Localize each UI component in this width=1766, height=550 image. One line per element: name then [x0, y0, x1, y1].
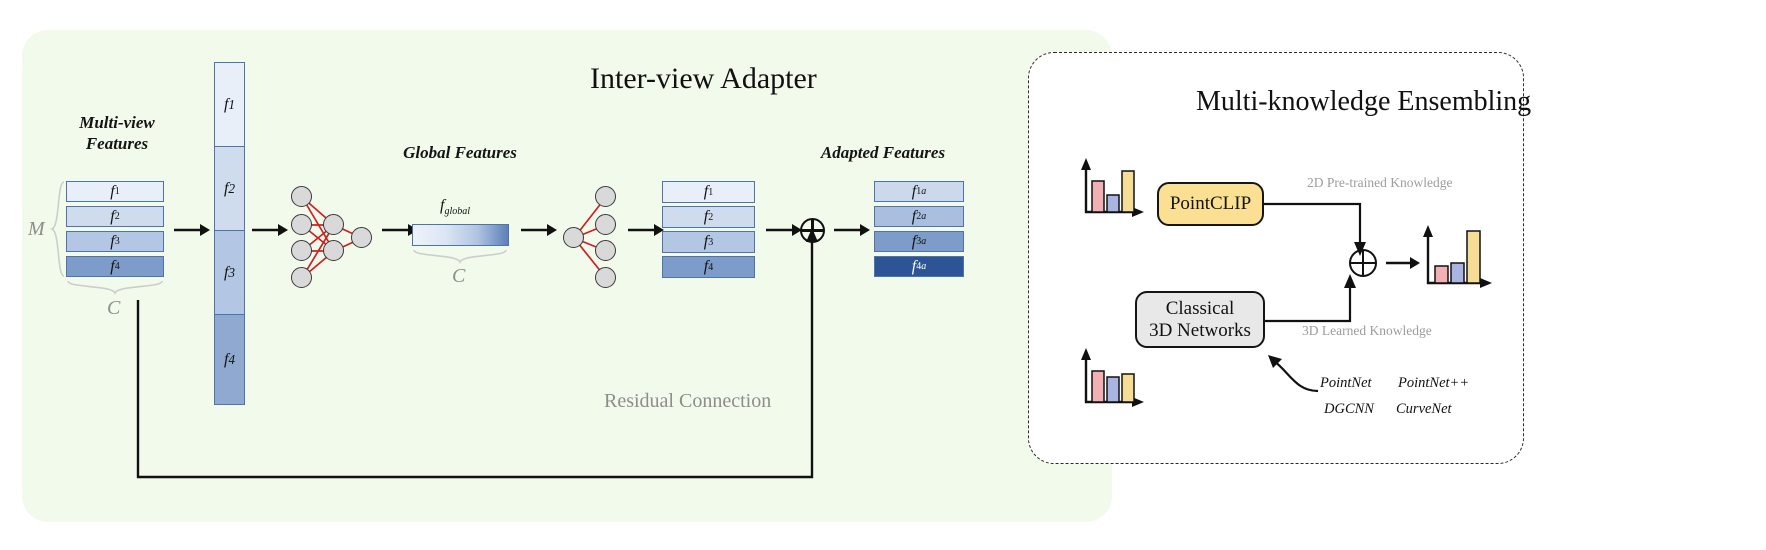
- residual-connection-label: Residual Connection: [604, 390, 771, 413]
- dim-c-input-label: C: [107, 297, 120, 320]
- adapted-feature-block: f4a: [874, 256, 964, 277]
- mlp-node: [291, 214, 312, 235]
- 2d-knowledge-label: 2D Pre-trained Knowledge: [1307, 175, 1452, 191]
- dim-m-label: M: [28, 218, 45, 241]
- classical-3d-label-line2: 3D Networks: [1149, 320, 1251, 341]
- concat-feature-cell: f1: [214, 62, 245, 147]
- multi-knowledge-ensembling-title: Multi-knowledge Ensembling: [1196, 86, 1531, 118]
- classical-3d-label-line1: Classical: [1166, 298, 1235, 319]
- decoder-node: [563, 227, 584, 248]
- pointclip-label: PointCLIP: [1170, 193, 1251, 214]
- multi-view-feature-block: f3: [66, 231, 164, 252]
- intermediate-feature-block: f4: [662, 256, 755, 278]
- intermediate-feature-block: f2: [662, 206, 755, 228]
- intermediate-feature-block: f3: [662, 231, 755, 253]
- adapted-feature-block: f1a: [874, 181, 964, 202]
- multi-view-features-label: Multi-view Features: [62, 112, 172, 155]
- global-feature-bar: [412, 224, 509, 246]
- arrow-right-icon: [628, 222, 664, 238]
- mlp-node: [351, 227, 372, 248]
- bar-chart-3d-icon: [1076, 348, 1146, 410]
- arrow-right-icon: [252, 222, 288, 238]
- intermediate-feature-block: f1: [662, 181, 755, 203]
- brace-c-input-icon: [66, 280, 166, 296]
- arrow-right-icon: [1386, 255, 1420, 271]
- arrow-right-icon: [174, 222, 210, 238]
- network-name-pointnet: PointNet: [1320, 375, 1372, 392]
- global-features-label: Global Features: [400, 142, 520, 163]
- mlp-node: [291, 267, 312, 288]
- multi-view-feature-block: f4: [66, 256, 164, 277]
- inter-view-adapter-title: Inter-view Adapter: [590, 62, 817, 96]
- network-name-dgcnn: DGCNN: [1324, 401, 1374, 418]
- brace-m-icon: [48, 180, 66, 278]
- multi-view-feature-block: f1: [66, 181, 164, 202]
- pointclip-box[interactable]: PointCLIP: [1157, 182, 1264, 226]
- adapted-features-label: Adapted Features: [812, 142, 954, 163]
- bar-chart-2d-icon: [1076, 158, 1146, 220]
- brace-c-global-icon: [412, 249, 510, 265]
- plus-operator-icon: [1349, 249, 1377, 277]
- decoder-node: [595, 186, 616, 207]
- classical-3d-networks-box[interactable]: Classical 3D Networks: [1135, 291, 1265, 348]
- mlp-node: [323, 240, 344, 261]
- adapted-feature-block: f3a: [874, 231, 964, 252]
- decoder-node: [595, 267, 616, 288]
- f-global-subscript: global: [444, 206, 470, 217]
- arrow-right-icon: [766, 222, 802, 238]
- multi-view-features-label-line1: Multi-view: [79, 113, 155, 132]
- adapted-feature-block: f2a: [874, 206, 964, 227]
- f-global-label: fglobal: [440, 197, 470, 217]
- network-name-curvenet: CurveNet: [1396, 401, 1452, 418]
- figure-root: Inter-view Adapter Multi-view Features M…: [0, 0, 1766, 550]
- multi-view-feature-block: f2: [66, 206, 164, 227]
- concat-feature-cell: f2: [214, 146, 245, 231]
- 3d-knowledge-label: 3D Learned Knowledge: [1302, 323, 1432, 339]
- arrow-right-icon: [521, 222, 557, 238]
- arrow-right-icon: [834, 222, 870, 238]
- multi-view-features-label-line2: Features: [86, 134, 148, 153]
- decoder-node: [595, 240, 616, 261]
- network-name-pointnetpp: PointNet++: [1398, 375, 1469, 392]
- mlp-node: [291, 186, 312, 207]
- decoder-node: [595, 214, 616, 235]
- mlp-node: [291, 240, 312, 261]
- mlp-node: [323, 214, 344, 235]
- dim-c-global-label: C: [452, 265, 465, 288]
- bar-chart-ensembled-icon: [1418, 225, 1496, 293]
